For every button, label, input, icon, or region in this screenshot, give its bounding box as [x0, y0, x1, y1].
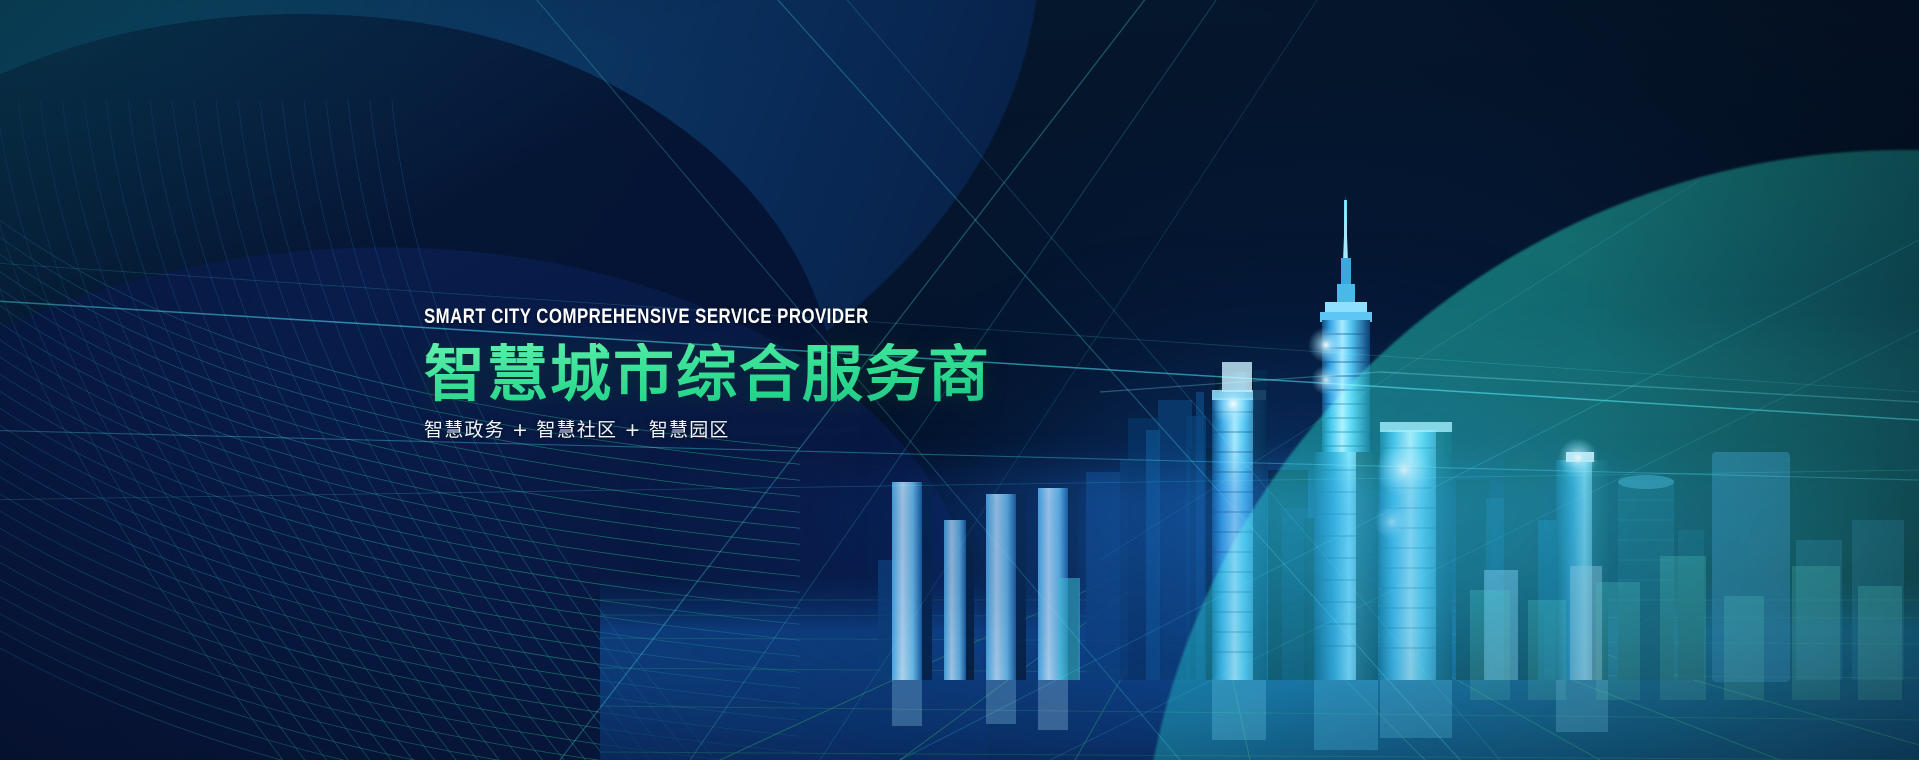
hero-headline: 智慧城市综合服务商 [424, 343, 1064, 406]
green-glow-soft [1279, 330, 1919, 760]
hero-banner: SMART CITY COMPREHENSIVE SERVICE PROVIDE… [0, 0, 1919, 760]
hero-eyebrow: SMART CITY COMPREHENSIVE SERVICE PROVIDE… [424, 306, 936, 327]
hero-text-block: SMART CITY COMPREHENSIVE SERVICE PROVIDE… [424, 306, 1064, 440]
hero-subline: 智慧政务 + 智慧社区 + 智慧园区 [424, 421, 1064, 440]
